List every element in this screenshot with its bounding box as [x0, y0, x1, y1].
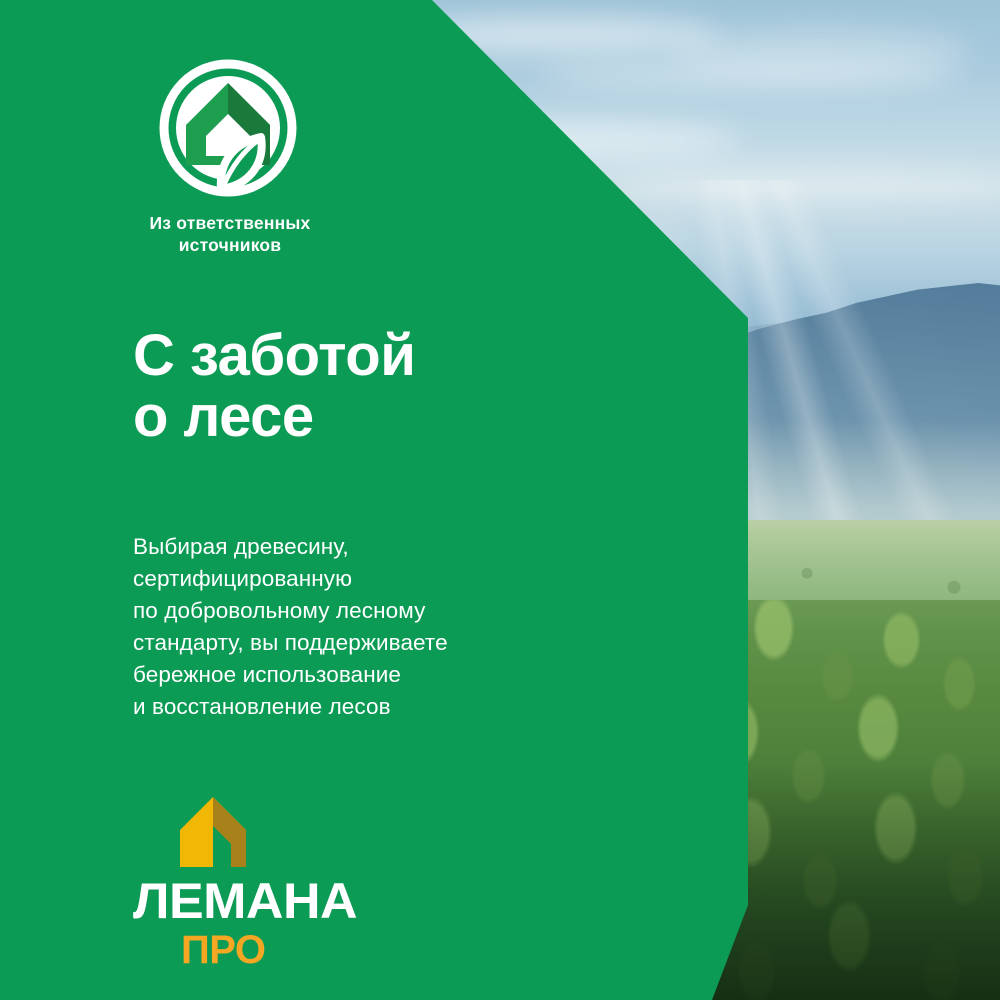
eco-house-leaf-circle-logo: [157, 57, 299, 199]
promo-poster: Из ответственных источников С заботой о …: [0, 0, 1000, 1000]
body-paragraph: Выбирая древесину, сертифицированную по …: [133, 531, 653, 723]
brand-subname: ПРО: [181, 930, 393, 970]
cloud: [540, 62, 960, 88]
lemana-house-icon: [178, 795, 248, 869]
eco-badge-caption: Из ответственных источников: [100, 212, 360, 257]
page-title: С заботой о лесе: [133, 325, 693, 448]
brand-lockup: ЛЕМАНА ПРО: [133, 795, 393, 970]
cloud: [620, 168, 1000, 198]
brand-name: ЛЕМАНА: [133, 876, 403, 926]
